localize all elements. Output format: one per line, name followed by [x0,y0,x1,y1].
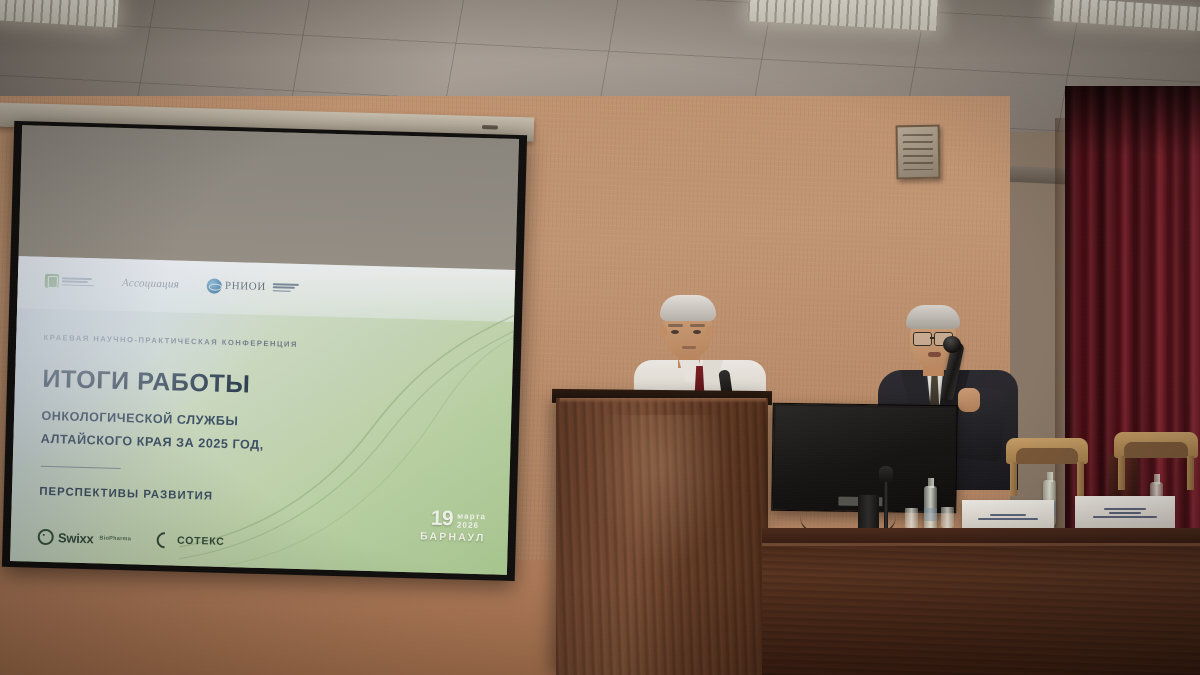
speaker2-hair [906,305,960,329]
speaker2-hand [958,388,980,412]
swixx-ring-icon [38,529,54,545]
table-microphone-head [879,466,893,482]
conference-hall-photo: Ассоциация РНИОИ КРАЕВАЯ НАУЧНО-ПРАКТИЧЕ… [0,0,1200,675]
sponsor-name: СОТЕКС [177,535,225,548]
sponsor-name: Swixx [58,530,94,546]
wooden-podium [556,398,768,675]
slide-date-year: 2026 [457,521,479,530]
screen-pull-knob [482,125,498,129]
slide-date-day: 19 [430,508,453,530]
drinking-glass [905,508,918,529]
projection-screen: Ассоциация РНИОИ КРАЕВАЯ НАУЧНО-ПРАКТИЧЕ… [2,121,527,581]
sponsor-tagline: BioPharma [99,536,131,543]
wall-notice-sign [896,125,941,180]
screen-surface: Ассоциация РНИОИ КРАЕВАЯ НАУЧНО-ПРАКТИЧЕ… [10,125,519,575]
presidium-table [762,543,1200,675]
presentation-slide: Ассоциация РНИОИ КРАЕВАЯ НАУЧНО-ПРАКТИЧЕ… [10,256,515,575]
drinking-glass [941,507,954,528]
speaker1-hair [660,295,716,321]
eyeglasses-icon [913,332,932,346]
sponsor-sotex: СОТЕКС [157,532,225,550]
screen-unlit-area [19,125,519,270]
water-bottle [924,486,937,532]
name-placard [1075,496,1175,529]
slide-date-block: 19 марта 2026 БАРНАУЛ [420,507,486,543]
sponsor-swixx: Swixx BioPharma [38,529,132,548]
table-wood-grain [762,543,1200,675]
slide-date-city: БАРНАУЛ [420,531,486,543]
